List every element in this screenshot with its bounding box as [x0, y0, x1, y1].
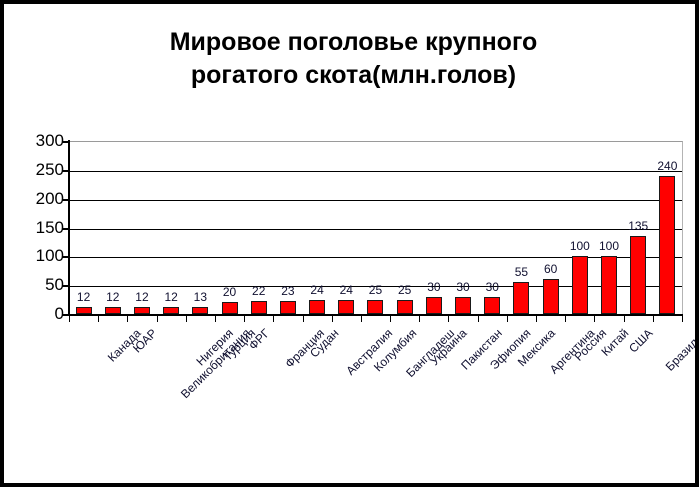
bar-value-label: 100 [599, 239, 619, 253]
x-category-label: США [626, 326, 655, 355]
x-tick-mark [332, 314, 333, 322]
bar [543, 279, 559, 314]
x-axis-category-labels: КанадаЮАРВеликобританияНигерияТурцияФРГФ… [69, 326, 682, 487]
bar-value-label: 23 [281, 284, 294, 298]
x-tick-mark [565, 314, 566, 322]
x-tick-mark [448, 314, 449, 322]
bar-slot: 55 [507, 141, 536, 314]
bar [309, 300, 325, 314]
x-tick-mark [653, 314, 654, 322]
x-axis-tickmarks [69, 314, 682, 324]
bar-value-label: 135 [628, 219, 648, 233]
x-tick-mark [244, 314, 245, 322]
bar-value-label: 12 [135, 290, 148, 304]
bar [163, 307, 179, 314]
x-category-label: Бразилия [663, 326, 699, 374]
bar-slot: 24 [332, 141, 361, 314]
bar-series: 1212121213202223242425253030305560100100… [69, 141, 682, 314]
x-tick-mark [594, 314, 595, 322]
bar-value-label: 13 [194, 290, 207, 304]
bar-slot: 135 [624, 141, 653, 314]
y-axis-labels: 050100150200250300 [4, 4, 64, 487]
x-tick-mark [127, 314, 128, 322]
x-tick-mark [390, 314, 391, 322]
bar-slot: 22 [244, 141, 273, 314]
bar [367, 300, 383, 314]
bar-slot: 30 [478, 141, 507, 314]
bar-slot: 20 [215, 141, 244, 314]
y-tick-label: 300 [6, 131, 64, 151]
x-tick-mark [682, 314, 683, 322]
x-tick-mark [273, 314, 274, 322]
bar-slot: 100 [565, 141, 594, 314]
bar-slot: 240 [653, 141, 682, 314]
bar [455, 297, 471, 314]
bar-value-label: 24 [340, 283, 353, 297]
x-tick-mark [215, 314, 216, 322]
bar-value-label: 240 [657, 159, 677, 173]
bar-value-label: 25 [398, 283, 411, 297]
bar-value-label: 30 [456, 280, 469, 294]
chart-title-line-1: Мировое поголовье крупного [4, 26, 699, 59]
x-tick-mark [361, 314, 362, 322]
x-tick-mark [478, 314, 479, 322]
bar [484, 297, 500, 314]
bar-slot: 12 [157, 141, 186, 314]
bar [601, 256, 617, 314]
bar [280, 301, 296, 314]
bar-value-label: 22 [252, 284, 265, 298]
bar-value-label: 30 [427, 280, 440, 294]
y-tick-label: 250 [6, 160, 64, 180]
bar-value-label: 30 [486, 280, 499, 294]
bar-value-label: 25 [369, 283, 382, 297]
bar [659, 176, 675, 314]
y-tick-label: 0 [6, 304, 64, 324]
bar-slot: 100 [594, 141, 623, 314]
bar-slot: 25 [390, 141, 419, 314]
bar-value-label: 24 [310, 283, 323, 297]
bar [426, 297, 442, 314]
y-tick-label: 100 [6, 246, 64, 266]
bar-value-label: 12 [106, 290, 119, 304]
bar [222, 302, 238, 314]
chart-title: Мировое поголовье крупного рогатого скот… [4, 26, 699, 92]
bar [251, 301, 267, 314]
bar-slot: 30 [448, 141, 477, 314]
x-tick-mark [303, 314, 304, 322]
bar [572, 256, 588, 314]
bar-slot: 12 [127, 141, 156, 314]
y-tick-label: 150 [6, 218, 64, 238]
bar [397, 300, 413, 314]
x-tick-mark [536, 314, 537, 322]
bar [192, 307, 208, 314]
bar-slot: 60 [536, 141, 565, 314]
bar-slot: 13 [186, 141, 215, 314]
x-tick-mark [69, 314, 70, 322]
bar [134, 307, 150, 314]
bar-slot: 30 [419, 141, 448, 314]
bar-value-label: 12 [164, 290, 177, 304]
x-tick-mark [507, 314, 508, 322]
chart-title-line-2: рогатого скота(млн.голов) [4, 59, 699, 92]
bar [513, 282, 529, 314]
bar-slot: 12 [98, 141, 127, 314]
x-tick-mark [624, 314, 625, 322]
x-tick-mark [98, 314, 99, 322]
bar-slot: 12 [69, 141, 98, 314]
chart-image: Мировое поголовье крупного рогатого скот… [0, 0, 699, 487]
y-tick-label: 200 [6, 189, 64, 209]
y-tick-label: 50 [6, 275, 64, 295]
bar-value-label: 100 [570, 239, 590, 253]
bar-value-label: 60 [544, 262, 557, 276]
bar-value-label: 12 [77, 290, 90, 304]
x-tick-mark [419, 314, 420, 322]
bar [105, 307, 121, 314]
x-tick-mark [186, 314, 187, 322]
bar [338, 300, 354, 314]
bar [630, 236, 646, 314]
bar-slot: 24 [303, 141, 332, 314]
bar-value-label: 55 [515, 265, 528, 279]
x-tick-mark [157, 314, 158, 322]
bar-slot: 25 [361, 141, 390, 314]
bar-slot: 23 [273, 141, 302, 314]
bar-value-label: 20 [223, 285, 236, 299]
bar [76, 307, 92, 314]
